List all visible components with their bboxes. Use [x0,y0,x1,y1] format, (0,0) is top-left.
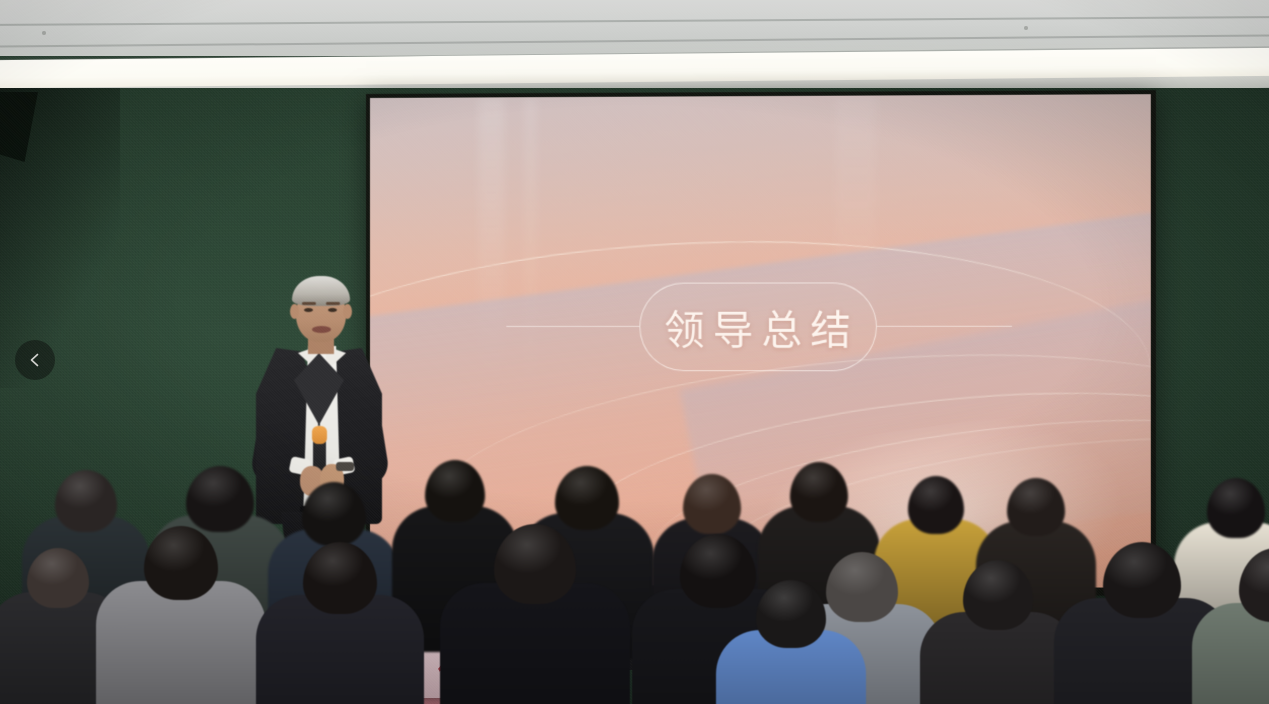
attendee-head [790,462,848,522]
attendee-head [144,526,218,600]
ceiling-fixture-dot [42,31,46,35]
ceiling [0,0,1269,56]
attendee-head [1007,478,1065,536]
presenter-brow [326,302,340,305]
presenter-hair [292,276,350,306]
attendee-head [963,560,1033,630]
attendee-head [302,482,366,546]
attendee-head [908,476,964,534]
attendee-front-7 [716,580,866,704]
attendee-head [55,470,117,532]
audience [0,430,1269,704]
attendee-front-3 [256,542,424,704]
attendee-head [756,580,826,648]
ceiling-seam [0,34,1269,47]
slide-title-text: 领导总结 [656,297,859,356]
attendee-head [494,524,576,604]
presenter-ear [343,304,352,319]
slide-rule-right [876,326,1011,327]
presentation-photo: 领导总结 [0,0,1269,704]
attendee-head [27,548,89,608]
slide-rule-left [506,326,639,327]
slide-title-pill: 领导总结 [639,282,877,371]
attendee-head [555,466,619,530]
presenter-eye [304,308,313,312]
attendee-front-2 [96,526,266,704]
attendee-front-8 [920,560,1076,704]
attendee-head [425,460,485,522]
attendee-head [1207,478,1265,538]
presenter-eye [328,308,337,312]
attendee-front-4 [440,524,630,704]
slide-title-block: 领导总结 [370,282,1151,371]
presenter-mouth [312,326,331,333]
chevron-left-icon [27,352,43,368]
attendee-head [1103,542,1181,618]
presenter-ear [290,304,299,319]
ceiling-seam [0,16,1269,26]
prev-button[interactable] [15,340,55,380]
attendee-head [186,466,254,532]
attendee-front-10 [1192,548,1269,704]
presenter-brow [302,302,316,305]
ceiling-fixture-dot [1024,26,1028,30]
attendee-head [683,474,741,534]
attendee-head [303,542,377,614]
